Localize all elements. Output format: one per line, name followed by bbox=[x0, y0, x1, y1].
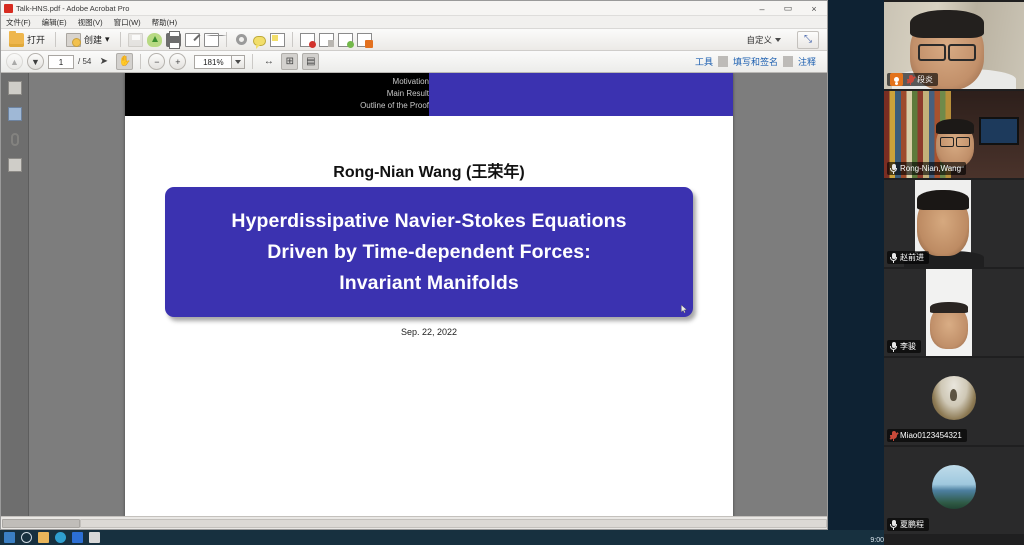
participant-name: 赵前进 bbox=[900, 252, 924, 263]
zoom-level-control[interactable]: 181% bbox=[194, 55, 245, 69]
horizontal-scrollbar[interactable] bbox=[1, 516, 827, 529]
pdf-page[interactable]: Motivation Main Result Outline of the Pr… bbox=[125, 73, 733, 516]
menu-edit[interactable]: 编辑(E) bbox=[42, 17, 67, 28]
menubar[interactable]: 文件(F) 编辑(E) 视图(V) 窗口(W) 帮助(H) bbox=[1, 16, 827, 29]
select-tool-button[interactable]: ➤ bbox=[95, 53, 112, 70]
zoom-dropdown-button[interactable] bbox=[232, 55, 245, 69]
expand-panel-button[interactable]: ⤡ bbox=[797, 31, 819, 49]
customize-toolbar-button[interactable]: 自定义 bbox=[746, 34, 781, 46]
highlight-stamp-icon[interactable] bbox=[270, 33, 285, 47]
taskbar-clock[interactable]: 9:00 bbox=[870, 537, 884, 544]
chevron-down-icon bbox=[775, 38, 781, 42]
talk-date: Sep. 22, 2022 bbox=[125, 325, 733, 340]
participant-tile[interactable]: 赵前进 bbox=[884, 180, 1024, 267]
participant-tile[interactable]: Rong-Nian,Wang bbox=[884, 91, 1024, 178]
start-icon[interactable] bbox=[4, 532, 15, 543]
toolbar-separator bbox=[252, 54, 253, 69]
participant-name-chip: 段炎 bbox=[887, 73, 938, 86]
tab-fill-and-sign[interactable]: 填写和签名 bbox=[728, 55, 783, 68]
zoom-level-input[interactable]: 181% bbox=[194, 55, 232, 69]
microphone-icon[interactable] bbox=[890, 520, 897, 530]
create-pdf-icon bbox=[66, 33, 81, 47]
customize-label: 自定义 bbox=[746, 34, 772, 46]
slide-header: Motivation Main Result Outline of the Pr… bbox=[125, 73, 733, 116]
acrobat-taskbar-icon[interactable] bbox=[89, 532, 100, 543]
meeting-app-icon[interactable] bbox=[72, 532, 83, 543]
scrollbar-track[interactable] bbox=[80, 519, 827, 528]
participant-name-chip: 夏鹏程 bbox=[887, 518, 929, 531]
chevron-down-icon bbox=[235, 60, 241, 64]
open-button-label: 打开 bbox=[27, 33, 45, 46]
title-line-2: Driven by Time-dependent Forces: bbox=[267, 241, 591, 264]
glasses-shape bbox=[940, 137, 970, 145]
page-display-button[interactable]: ⊞ bbox=[281, 53, 298, 70]
microphone-icon[interactable] bbox=[890, 164, 897, 174]
menu-window[interactable]: 窗口(W) bbox=[114, 17, 141, 28]
page-total-label: / 54 bbox=[78, 57, 91, 66]
menu-file[interactable]: 文件(F) bbox=[6, 17, 31, 28]
windows-taskbar[interactable] bbox=[0, 530, 884, 545]
slide-title-box: Hyperdissipative Navier-Stokes Equations… bbox=[165, 187, 693, 317]
minimize-button[interactable]: – bbox=[749, 1, 775, 16]
microphone-muted-icon[interactable] bbox=[890, 431, 897, 441]
attach-file-icon[interactable] bbox=[319, 33, 334, 47]
attach-delete-icon[interactable] bbox=[300, 33, 315, 47]
acrobat-window: Talk-HNS.pdf - Adobe Acrobat Pro – ▭ × 文… bbox=[0, 0, 828, 530]
toolbar-separator bbox=[292, 32, 293, 47]
save-icon[interactable] bbox=[128, 33, 143, 47]
participant-name: Rong-Nian,Wang bbox=[900, 164, 961, 173]
zoom-in-button[interactable]: + bbox=[169, 53, 186, 70]
tab-comment[interactable]: 注释 bbox=[793, 55, 821, 68]
read-mode-button[interactable]: ▤ bbox=[302, 53, 319, 70]
microphone-muted-icon[interactable] bbox=[907, 75, 914, 85]
fit-width-button[interactable]: ↔ bbox=[260, 53, 277, 70]
title-line-1: Hyperdissipative Navier-Stokes Equations bbox=[231, 210, 626, 233]
sticky-note-icon[interactable] bbox=[253, 36, 266, 46]
settings-gear-icon[interactable] bbox=[236, 34, 247, 45]
slide-section-nav: Motivation Main Result Outline of the Pr… bbox=[360, 76, 429, 112]
host-badge-icon bbox=[890, 73, 903, 86]
open-folder-icon bbox=[9, 33, 24, 47]
participant-name-chip: 李骏 bbox=[887, 340, 921, 353]
participant-name: Miao0123454321 bbox=[900, 431, 962, 440]
video-hair bbox=[930, 302, 968, 313]
tab-divider bbox=[783, 56, 793, 67]
attachments-icon[interactable] bbox=[11, 133, 19, 146]
participant-tile[interactable]: 段炎 bbox=[884, 2, 1024, 89]
microphone-icon[interactable] bbox=[890, 253, 897, 263]
microphone-icon[interactable] bbox=[890, 342, 897, 352]
previous-page-button[interactable]: ▲ bbox=[6, 53, 23, 70]
participant-tile[interactable]: 夏鹏程 bbox=[884, 447, 1024, 534]
nav-main-result: Main Result bbox=[360, 88, 429, 100]
navigation-toolbar[interactable]: ▲ ▼ 1 / 54 ➤ ✋ − + 181% ↔ ⊞ ▤ 工具 填写和签名 注… bbox=[1, 51, 827, 73]
page-thumbnails-icon[interactable] bbox=[8, 81, 22, 95]
maximize-button[interactable]: ▭ bbox=[775, 1, 801, 16]
toolbar-separator bbox=[120, 32, 121, 47]
nav-motivation: Motivation bbox=[360, 76, 429, 88]
participant-tile[interactable]: Miao0123454321 bbox=[884, 358, 1024, 445]
open-button[interactable]: 打开 bbox=[6, 31, 48, 49]
cloud-upload-icon[interactable] bbox=[147, 33, 162, 47]
glasses-shape bbox=[918, 44, 976, 57]
participant-name-chip: Rong-Nian,Wang bbox=[887, 162, 966, 175]
video-hair bbox=[936, 119, 974, 134]
avatar bbox=[932, 376, 976, 420]
participant-tile[interactable]: 李骏 bbox=[884, 269, 1024, 356]
participant-name-chip: 赵前进 bbox=[887, 251, 929, 264]
tab-divider bbox=[718, 56, 728, 67]
print-icon[interactable] bbox=[166, 33, 181, 47]
video-hair bbox=[910, 10, 984, 38]
signatures-icon[interactable] bbox=[8, 158, 22, 172]
window-titlebar[interactable]: Talk-HNS.pdf - Adobe Acrobat Pro – ▭ × bbox=[1, 1, 827, 16]
email-icon[interactable] bbox=[204, 33, 219, 47]
participant-name: 夏鹏程 bbox=[900, 519, 924, 530]
browser-icon[interactable] bbox=[55, 532, 66, 543]
window-title: Talk-HNS.pdf - Adobe Acrobat Pro bbox=[16, 4, 129, 13]
next-page-button[interactable]: ▼ bbox=[27, 53, 44, 70]
document-row: Motivation Main Result Outline of the Pr… bbox=[1, 73, 827, 516]
right-tool-tabs[interactable]: 工具 填写和签名 注释 bbox=[690, 55, 821, 68]
slide-header-accent bbox=[429, 73, 733, 116]
avatar bbox=[932, 465, 976, 509]
create-button-label: 创建 bbox=[84, 33, 102, 46]
participant-name-chip: Miao0123454321 bbox=[887, 429, 967, 442]
attach-stamp-icon[interactable] bbox=[357, 33, 372, 47]
menu-help[interactable]: 帮助(H) bbox=[152, 17, 177, 28]
mouse-cursor bbox=[681, 305, 687, 313]
hand-tool-button[interactable]: ✋ bbox=[116, 53, 133, 70]
pdf-file-icon bbox=[4, 4, 13, 13]
bookmarks-icon[interactable] bbox=[8, 107, 22, 121]
page-number-input[interactable]: 1 bbox=[48, 55, 74, 69]
video-participants-panel[interactable]: 段炎 Rong-Nian,Wang 赵前进 李骏 bbox=[884, 0, 1024, 545]
document-viewport[interactable]: Motivation Main Result Outline of the Pr… bbox=[29, 73, 827, 516]
slide-body: Hyperdissipative Navier-Stokes Equations… bbox=[125, 158, 733, 516]
menu-view[interactable]: 视图(V) bbox=[78, 17, 103, 28]
author-name: Rong-Nian Wang (王荣年) bbox=[125, 158, 733, 182]
navigation-pane-rail[interactable] bbox=[1, 73, 29, 516]
toolbar-separator bbox=[140, 54, 141, 69]
chevron-down-icon[interactable]: ▾ bbox=[105, 34, 110, 45]
zoom-out-button[interactable]: − bbox=[148, 53, 165, 70]
main-toolbar[interactable]: 打开 创建 ▾ 自定义 ⤡ bbox=[1, 29, 827, 51]
participant-name: 段炎 bbox=[917, 74, 933, 85]
participant-name: 李骏 bbox=[900, 341, 916, 352]
title-line-3: Invariant Manifolds bbox=[339, 272, 519, 295]
file-explorer-icon[interactable] bbox=[38, 532, 49, 543]
scrollbar-thumb[interactable] bbox=[2, 519, 80, 528]
search-icon[interactable] bbox=[21, 532, 32, 543]
video-hair bbox=[917, 190, 969, 210]
background-monitor bbox=[979, 117, 1019, 145]
edit-pdf-icon[interactable] bbox=[185, 33, 200, 47]
close-button[interactable]: × bbox=[801, 1, 827, 16]
window-controls[interactable]: – ▭ × bbox=[749, 1, 827, 16]
create-button[interactable]: 创建 ▾ bbox=[63, 31, 113, 49]
attach-approve-icon[interactable] bbox=[338, 33, 353, 47]
toolbar-separator bbox=[55, 32, 56, 47]
nav-outline-of-the-proof: Outline of the Proof bbox=[360, 100, 429, 112]
tab-tools[interactable]: 工具 bbox=[690, 55, 718, 68]
